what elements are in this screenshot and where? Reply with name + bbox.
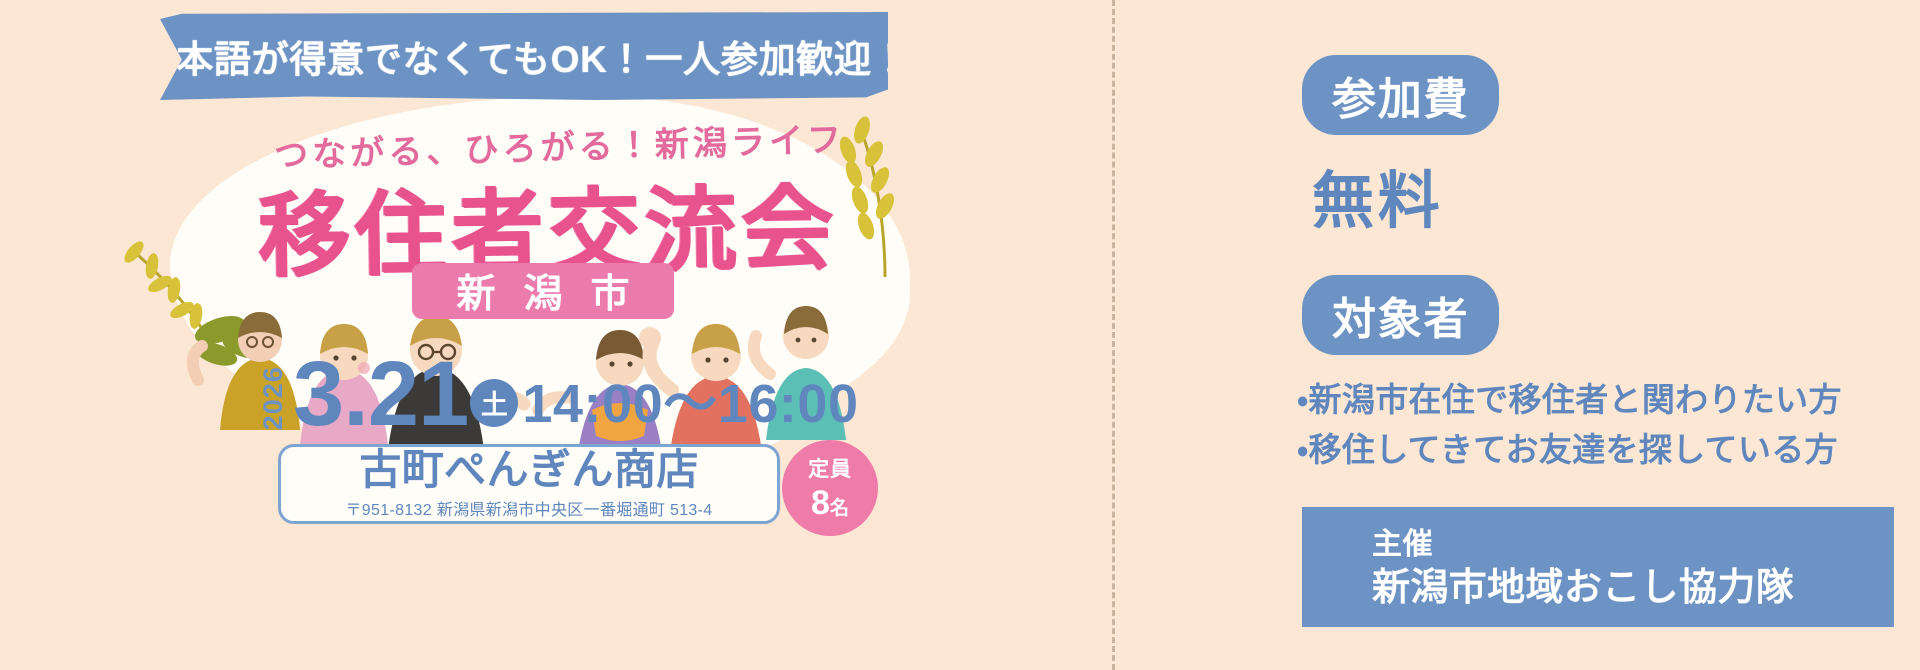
city-badge: 新 潟 市	[412, 263, 674, 319]
city-badge-label: 新 潟 市	[448, 263, 638, 319]
event-date: 2026 3.21 土 14:00〜16:00	[258, 352, 859, 437]
fee-value: 無料	[1312, 150, 1443, 240]
right-info-panel: 参加費 無料 対象者 ・新潟市在住で移住者と関わりたい方 ・移住してきてお友達を…	[1112, 0, 1920, 670]
day-of-week-badge: 土	[470, 379, 518, 427]
capacity-number: 8	[811, 484, 830, 522]
target-list: ・新潟市在住で移住者と関わりたい方 ・移住してきてお友達を探している方	[1297, 375, 1842, 475]
capacity-badge: 定員 8名	[782, 440, 878, 536]
banner-ribbon: 日本語が得意でなくてもOK！一人参加歓迎！	[160, 12, 888, 100]
event-flyer: 日本語が得意でなくてもOK！一人参加歓迎！ つながる、ひろがる！新潟ライフ 移住…	[0, 0, 1920, 670]
capacity-label: 定員	[808, 453, 852, 483]
fee-label: 参加費	[1332, 63, 1469, 127]
left-art-panel: 日本語が得意でなくてもOK！一人参加歓迎！ つながる、ひろがる！新潟ライフ 移住…	[0, 0, 1112, 670]
host-box: 主催 新潟市地域おこし協力隊	[1302, 507, 1894, 627]
target-label-pill: 対象者	[1302, 275, 1499, 355]
capacity-unit: 名	[830, 498, 849, 519]
venue-name: 古町ぺんぎん商店	[359, 448, 698, 493]
host-name: 新潟市地域おこし協力隊	[1372, 564, 1894, 613]
banner-text: 日本語が得意でなくてもOK！一人参加歓迎！	[138, 29, 909, 83]
capacity-value: 8名	[811, 484, 849, 523]
venue-address: 〒951-8132 新潟県新潟市中央区一番堀通町 513-4	[345, 496, 712, 520]
venue-box: 古町ぺんぎん商店 〒951-8132 新潟県新潟市中央区一番堀通町 513-4	[278, 444, 780, 524]
target-list-item: ・移住してきてお友達を探している方	[1297, 425, 1842, 475]
event-month-day: 3.21	[293, 352, 468, 437]
event-year: 2026	[258, 366, 289, 430]
event-time-range: 14:00〜16:00	[522, 377, 858, 431]
target-list-item: ・新潟市在住で移住者と関わりたい方	[1297, 375, 1842, 425]
host-label: 主催	[1372, 525, 1894, 564]
fee-label-pill: 参加費	[1302, 55, 1499, 135]
target-label: 対象者	[1332, 283, 1469, 347]
